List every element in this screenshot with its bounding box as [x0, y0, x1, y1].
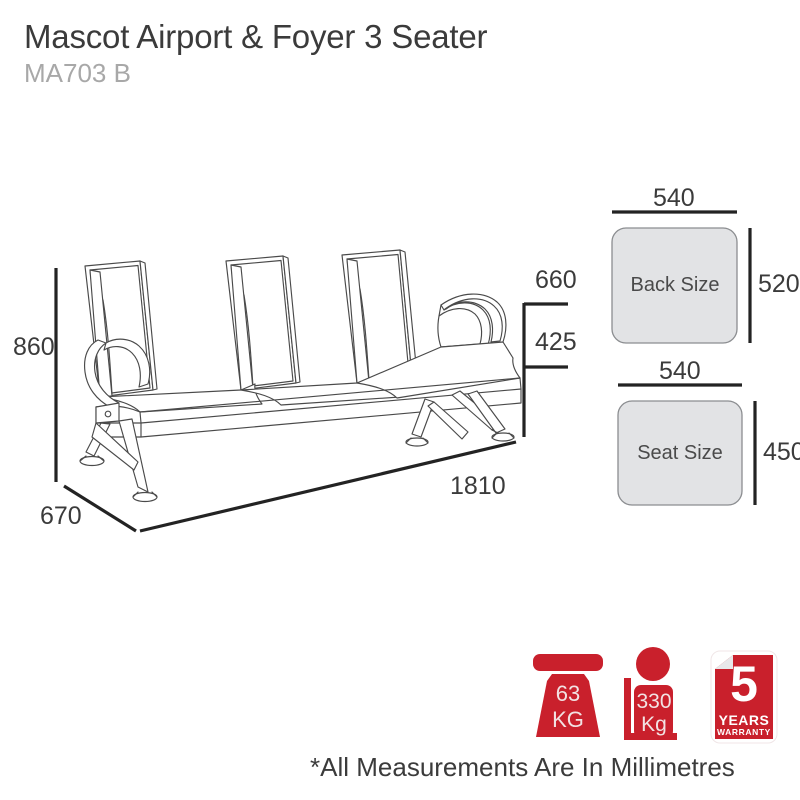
dim-label-425: 425 [535, 330, 577, 355]
warranty-label: WARRANTY [714, 728, 774, 737]
capacity-unit: Kg [632, 713, 676, 737]
armrest [438, 294, 506, 347]
dim-label-depth-670: 670 [40, 504, 82, 529]
capacity-value: 330 [632, 690, 676, 714]
specification-drawing [0, 0, 800, 800]
dim-label-660: 660 [535, 268, 577, 293]
warranty-years-label: YEARS [716, 713, 772, 727]
bench-seat-illustration [80, 250, 521, 502]
seat-size-label: Seat Size [635, 443, 725, 463]
weight-value: 63 [536, 681, 600, 707]
backrest-panel-2 [226, 256, 300, 390]
dimension-bracket-right [524, 303, 568, 437]
leg-middle [406, 399, 468, 446]
dim-label-width-1810: 1810 [450, 474, 506, 499]
dim-label-height-860: 860 [13, 335, 55, 360]
dim-label-back-height-520: 520 [758, 272, 800, 297]
warranty-years-number: 5 [718, 659, 770, 709]
back-size-label: Back Size [630, 275, 720, 295]
dim-label-seat-height-450: 450 [763, 440, 800, 465]
dim-label-seat-width-540: 540 [659, 359, 701, 384]
weight-unit: KG [536, 707, 600, 733]
measurement-note: *All Measurements Are In Millimetres [310, 752, 735, 782]
dim-label-back-width-540: 540 [653, 186, 695, 211]
seat-pads [100, 342, 521, 423]
